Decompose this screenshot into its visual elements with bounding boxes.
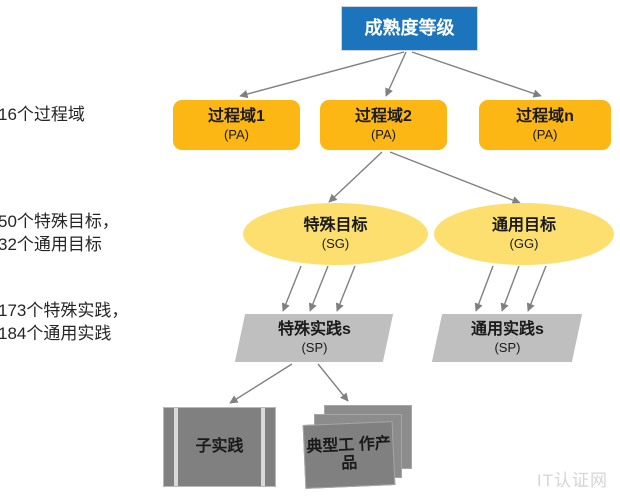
node-generic-goal-sub: (GG) (510, 237, 539, 251)
edge-gg-to-gp-c (528, 266, 546, 311)
node-specific-goal[interactable]: 特殊目标 (SG) (243, 203, 428, 265)
node-process-area-2[interactable]: 过程域2 (PA) (320, 100, 447, 150)
node-process-area-1-label: 过程域1 (208, 108, 265, 126)
node-specific-practices-sub: (SP) (301, 341, 327, 355)
diagram-canvas: 成熟度等级 过程域1 (PA) 过程域2 (PA) 过程域n (PA) 特殊目标… (0, 0, 620, 503)
edge-sp-to-subpractice (230, 364, 292, 403)
node-specific-practices-label: 特殊实践s (278, 321, 351, 339)
node-generic-practices-label: 通用实践s (471, 321, 544, 339)
edge-root-to-pa1 (240, 52, 404, 96)
edge-pa2-to-sg (329, 152, 382, 202)
watermark: IT认证网 (537, 466, 608, 491)
edge-gg-to-gp-a (476, 266, 493, 311)
node-generic-practices[interactable]: 通用实践s (SP) (432, 314, 582, 362)
node-specific-practices-inner: 特殊实践s (SP) (278, 321, 351, 355)
node-process-area-2-label: 过程域2 (355, 108, 412, 126)
edge-sp-to-workproduct (318, 364, 348, 401)
edge-sg-to-sp-b (310, 266, 328, 311)
node-process-area-1-sub: (PA) (224, 128, 249, 142)
sub-practice-left-bar (174, 408, 178, 486)
edge-sg-to-sp-c (337, 266, 355, 311)
node-generic-practices-inner: 通用实践s (SP) (471, 321, 544, 355)
node-generic-practices-sub: (SP) (494, 341, 520, 355)
node-maturity-level-label: 成熟度等级 (365, 19, 455, 39)
work-product-stack-layer-front: 典型工 作产品 (303, 421, 396, 489)
node-sub-practice-label: 子实践 (195, 438, 243, 456)
side-label-process-areas: 16个过程域 (0, 104, 85, 127)
edge-sg-to-sp-a (283, 266, 301, 311)
node-work-product-label: 典型工 作产品 (304, 435, 394, 476)
node-specific-practices[interactable]: 特殊实践s (SP) (235, 314, 393, 362)
node-process-area-n-sub: (PA) (532, 128, 557, 142)
node-sub-practice[interactable]: 子实践 (163, 407, 276, 487)
node-maturity-level[interactable]: 成熟度等级 (341, 6, 478, 51)
side-label-goals: 50个特殊目标， 32个通用目标 (0, 211, 119, 257)
edge-pa2-to-gg (390, 152, 520, 203)
node-specific-goal-sub: (SG) (322, 237, 349, 251)
node-specific-goal-label: 特殊目标 (303, 217, 367, 235)
edge-gg-to-gp-b (502, 266, 519, 311)
sub-practice-right-bar (261, 408, 265, 486)
node-generic-goal-label: 通用目标 (492, 217, 556, 235)
node-process-area-n[interactable]: 过程域n (PA) (479, 100, 611, 150)
edge-root-to-pan (412, 52, 541, 96)
side-label-practices: 173个特殊实践， 184个通用实践 (0, 300, 128, 346)
edge-root-to-pa2 (386, 52, 406, 96)
node-process-area-1[interactable]: 过程域1 (PA) (173, 100, 300, 150)
node-generic-goal[interactable]: 通用目标 (GG) (434, 203, 614, 265)
node-process-area-2-sub: (PA) (371, 128, 396, 142)
node-work-product[interactable]: 典型工 作产品 (304, 405, 410, 487)
node-process-area-n-label: 过程域n (516, 108, 574, 126)
